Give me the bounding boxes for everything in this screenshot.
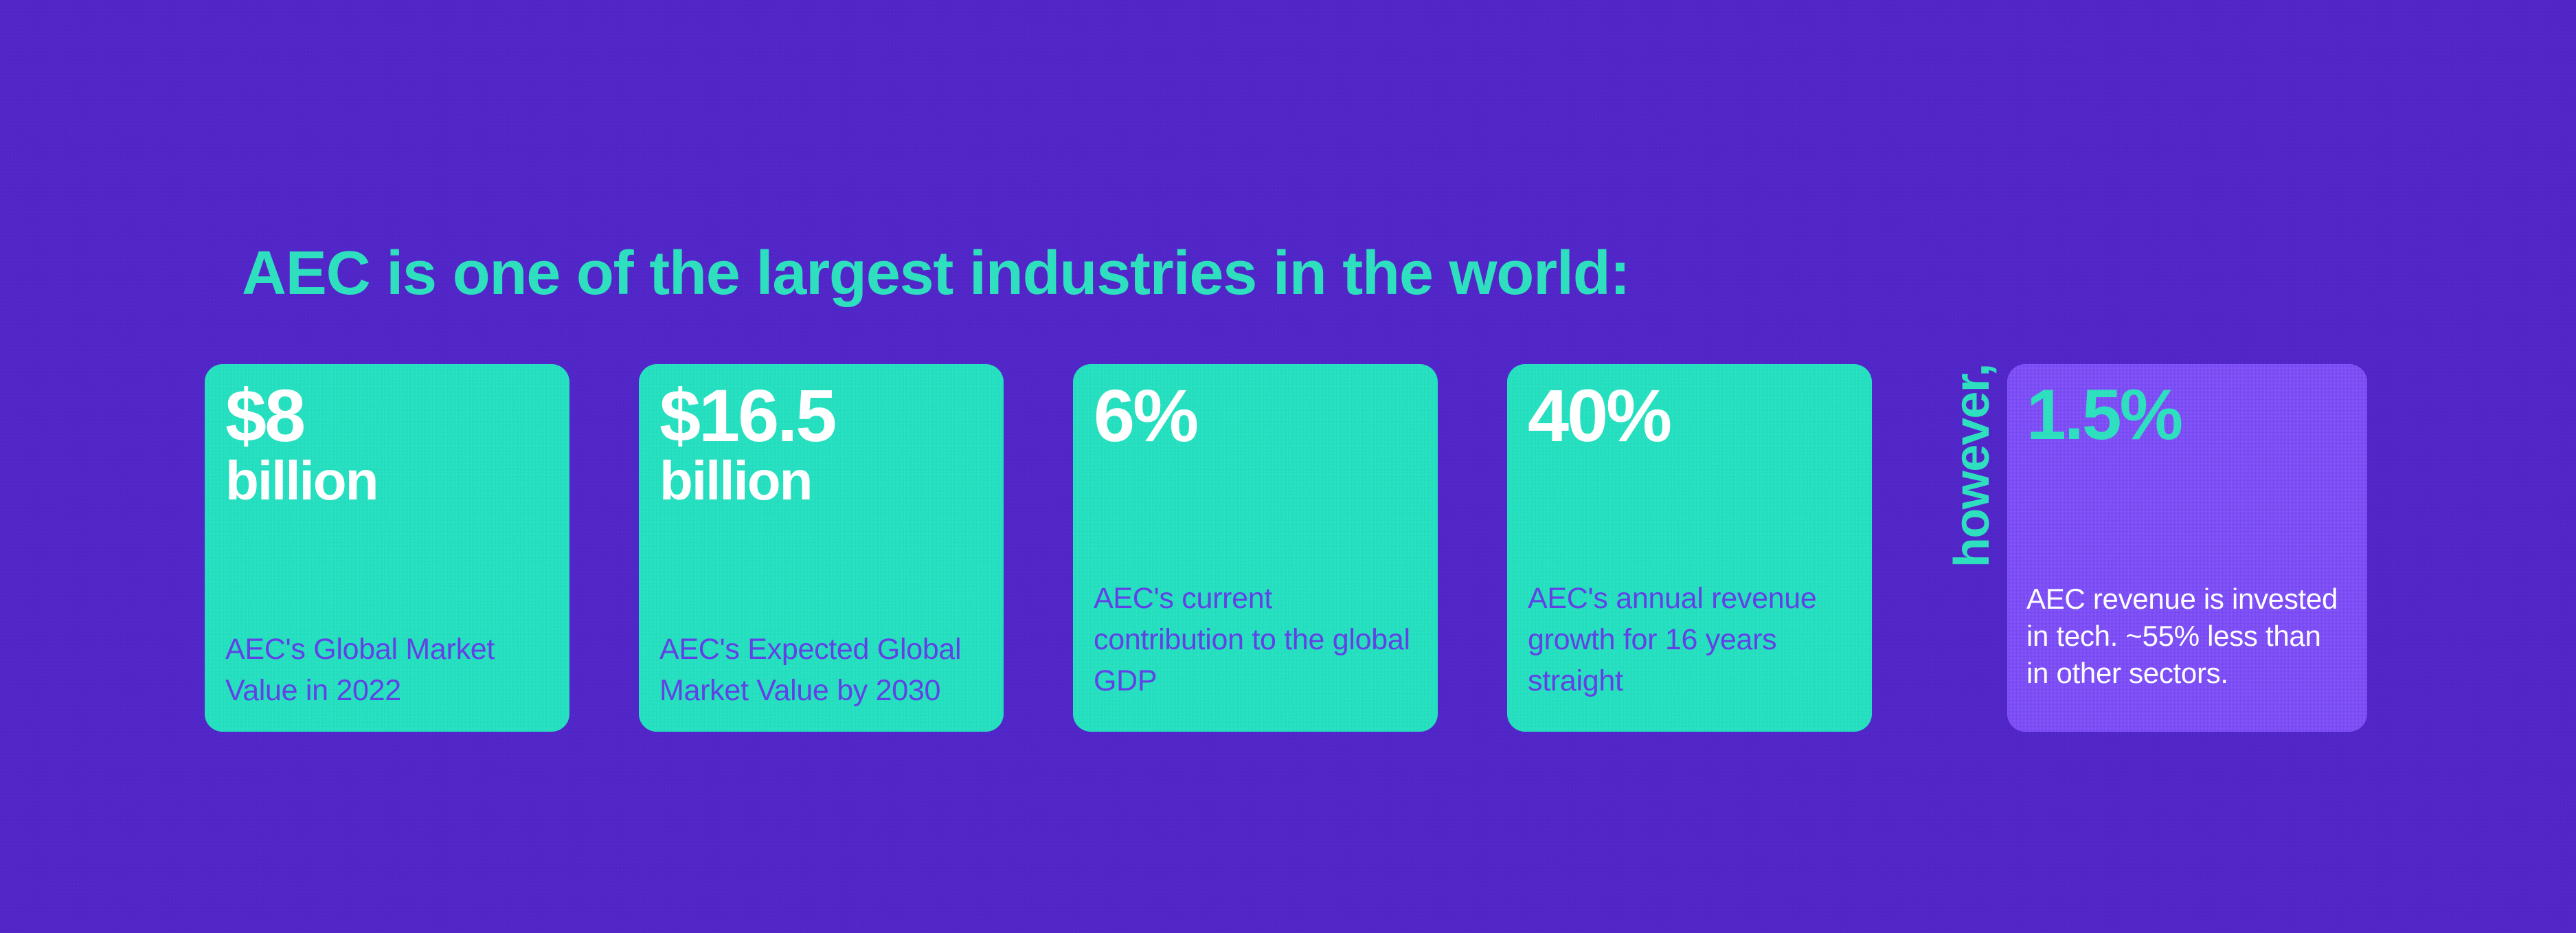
stat-value: 6% [1094, 382, 1417, 449]
stat-unit: billion [659, 452, 983, 510]
stat-value: $8 [225, 382, 549, 449]
stat-description: AEC's Expected Global Market Value by 20… [659, 629, 983, 714]
stat-card-1: $8 billion AEC's Global Market Value in … [205, 364, 569, 732]
page-title: AEC is one of the largest industries in … [242, 238, 1629, 309]
stat-card-2: $16.5 billion AEC's Expected Global Mark… [639, 364, 1004, 732]
stat-description: AEC revenue is invested in tech. ~55% le… [2026, 581, 2349, 714]
stat-card-5: 1.5% AEC revenue is invested in tech. ~5… [2007, 364, 2367, 732]
infographic-canvas: AEC is one of the largest industries in … [0, 0, 2576, 933]
stat-value: $16.5 [659, 382, 983, 449]
stat-card-4: 40% AEC's annual revenue growth for 16 y… [1507, 364, 1872, 732]
however-label: however, [1943, 364, 2002, 732]
stat-card-3: 6% AEC's current contribution to the glo… [1073, 364, 1438, 732]
stat-card-row: $8 billion AEC's Global Market Value in … [205, 364, 2367, 732]
however-card-group: however, 1.5% AEC revenue is invested in… [1941, 364, 2367, 732]
stat-value: 40% [1528, 382, 1851, 449]
stat-description: AEC's Global Market Value in 2022 [225, 629, 549, 714]
stat-description: AEC's current contribution to the global… [1094, 578, 1417, 714]
stat-unit: billion [225, 452, 549, 510]
stat-value: 1.5% [2026, 379, 2349, 451]
stat-description: AEC's annual revenue growth for 16 years… [1528, 578, 1851, 714]
